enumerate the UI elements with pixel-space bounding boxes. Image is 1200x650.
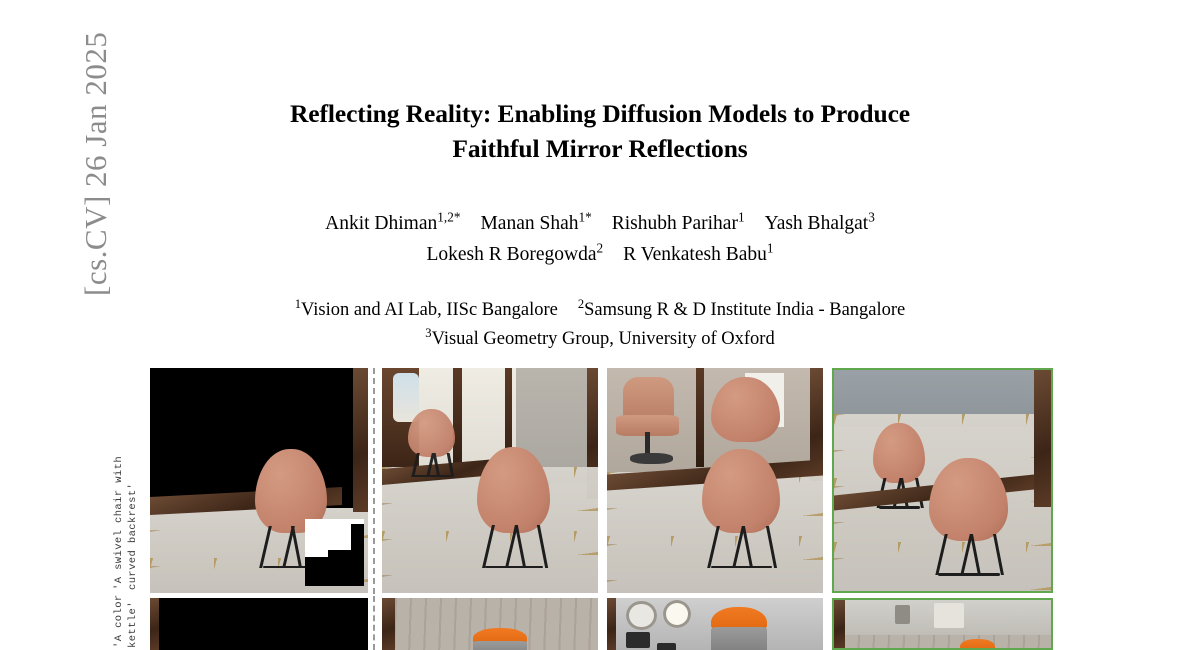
- affil-text: Samsung R & D Institute India - Bangalor…: [584, 300, 905, 320]
- affil-text: Vision and AI Lab, IISc Bangalore: [301, 300, 558, 320]
- title-line-1: Reflecting Reality: Enabling Diffusion M…: [290, 99, 910, 128]
- author-row-2: Lokesh R Boregowda2R Venkatesh Babu1: [150, 239, 1050, 270]
- scene: [150, 368, 368, 593]
- author-name: Manan Shah: [480, 213, 578, 234]
- chair-seat: [477, 447, 550, 533]
- kettle-body: [711, 627, 767, 650]
- author-affil-marker: 1: [738, 210, 745, 225]
- chair-object: [702, 449, 780, 566]
- author-affil-marker: 1: [767, 241, 774, 256]
- affil-text: Visual Geometry Group, University of Oxf…: [432, 329, 775, 349]
- row-caption-2: 'A color kettle': [112, 594, 140, 648]
- chair-seat: [711, 377, 780, 442]
- scene: [607, 598, 823, 650]
- row-2-panel-baseline-1[interactable]: [382, 598, 598, 650]
- row-2-panel-baseline-2[interactable]: [607, 598, 823, 650]
- affiliation-list: 1Vision and AI Lab, IISc Bangalore2Samsu…: [130, 296, 1070, 353]
- porthole-icon: [626, 601, 656, 630]
- row-caption-1-line-1: 'A swivel chair with: [112, 456, 126, 590]
- affiliation-row-2: 3Visual Geometry Group, University of Ox…: [130, 325, 1070, 354]
- author-affil-marker: 1,2*: [437, 210, 460, 225]
- kettle-body: [473, 641, 527, 650]
- chair-seat: [929, 458, 1007, 541]
- author-name: Yash Bhalgat: [765, 213, 869, 234]
- chair-legs: [708, 526, 773, 568]
- row-caption-1-line-2: curved backrest': [126, 456, 140, 590]
- kettle-lid: [711, 607, 767, 629]
- author-list: Ankit Dhiman1,2*Manan Shah1*Rishubh Pari…: [150, 208, 1050, 270]
- row-1-panel-baseline-1[interactable]: [382, 368, 598, 593]
- row-caption-1: 'A swivel chair with curved backrest': [112, 456, 140, 590]
- author-entry: Rishubh Parihar1: [612, 213, 745, 234]
- row-caption-2-line-2: kettle': [126, 594, 140, 648]
- row-1-panel-masked-input[interactable]: [150, 368, 368, 593]
- scene: [834, 600, 1051, 648]
- author-entry: Ankit Dhiman1,2*: [325, 213, 460, 234]
- kettle-reflection: [960, 639, 995, 648]
- row-2-panel-ours[interactable]: [832, 598, 1053, 650]
- chair-seat: [702, 449, 780, 533]
- paper-page: Reflecting Reality: Enabling Diffusion M…: [0, 0, 1200, 648]
- chair-reflection: [408, 409, 456, 477]
- chair-object: [477, 447, 550, 566]
- chair-seat: [873, 423, 925, 483]
- scene: [382, 598, 598, 650]
- author-entry: R Venkatesh Babu1: [623, 244, 773, 265]
- row-1-panel-ours[interactable]: [832, 368, 1053, 593]
- chair-legs: [483, 525, 545, 568]
- scene: [607, 368, 823, 593]
- kettle-object: [711, 607, 767, 650]
- author-entry: Manan Shah1*: [480, 213, 591, 234]
- chair-legs: [412, 453, 452, 477]
- author-affil-marker: 2: [597, 241, 604, 256]
- chair-seat: [408, 409, 456, 458]
- author-entry: Yash Bhalgat3: [765, 213, 875, 234]
- chair-object: [929, 458, 1007, 573]
- author-name: R Venkatesh Babu: [623, 244, 767, 265]
- author-affil-marker: 3: [868, 210, 875, 225]
- title-line-2: Faithful Mirror Reflections: [150, 131, 1050, 166]
- row-caption-2-line-1: 'A color: [112, 594, 126, 648]
- scene: [834, 370, 1051, 591]
- column-separator-row-1: [373, 368, 375, 594]
- author-name: Rishubh Parihar: [612, 213, 738, 234]
- office-chair-reflection: [616, 377, 689, 472]
- row-2-panel-masked-input[interactable]: [150, 598, 368, 650]
- page-title: Reflecting Reality: Enabling Diffusion M…: [150, 96, 1050, 166]
- author-name: Ankit Dhiman: [325, 213, 437, 234]
- row-1-panel-baseline-2[interactable]: [607, 368, 823, 593]
- author-name: Lokesh R Boregowda: [426, 244, 596, 265]
- affiliation-row-1: 1Vision and AI Lab, IISc Bangalore2Samsu…: [130, 296, 1070, 325]
- kettle-object: [473, 628, 527, 650]
- column-separator-row-2: [373, 596, 375, 650]
- scene: [382, 368, 598, 593]
- author-affil-marker: 1*: [578, 210, 591, 225]
- mask-inset: [305, 519, 364, 587]
- author-entry: Lokesh R Boregowda2: [426, 244, 603, 265]
- scene: [150, 598, 368, 650]
- chair-legs: [936, 534, 1002, 575]
- teaser-figure: 'A swivel chair with curved backrest' 'A…: [0, 362, 1200, 648]
- kettle-lid: [960, 639, 995, 648]
